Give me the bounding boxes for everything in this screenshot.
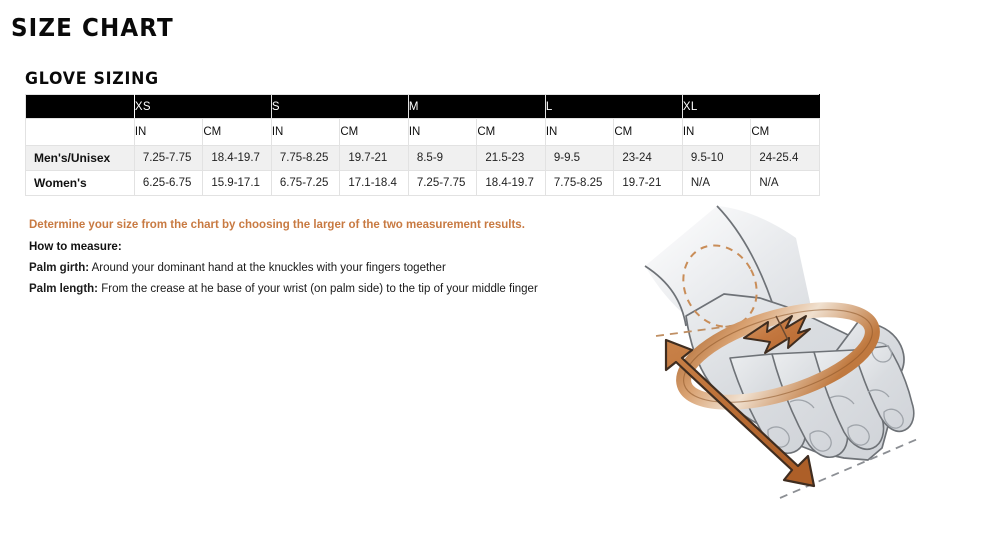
table-row: Men's/Unisex 7.25-7.75 18.4-19.7 7.75-8.… [26,146,820,171]
cell-mens-xl-in: 9.5-10 [682,146,751,171]
cell-womens-xs-cm: 15.9-17.1 [203,171,272,196]
section-title: GLOVE SIZING [25,69,159,89]
cell-mens-s-cm: 19.7-21 [340,146,409,171]
cell-mens-xs-cm: 18.4-19.7 [203,146,272,171]
cell-mens-m-cm: 21.5-23 [477,146,546,171]
unit-xs-cm: CM [203,119,272,146]
sizing-note: Determine your size from the chart by ch… [29,215,619,236]
palm-girth-description: Around your dominant hand at the knuckle… [89,262,446,274]
cell-mens-m-in: 8.5-9 [408,146,477,171]
unit-xl-cm: CM [751,119,820,146]
cell-womens-xs-in: 6.25-6.75 [134,171,203,196]
palm-length-label: Palm length: [29,283,98,295]
header-corner-cell [26,95,135,119]
cell-mens-l-cm: 23-24 [614,146,683,171]
unit-l-in: IN [545,119,614,146]
unit-corner-cell [26,119,135,146]
cell-womens-xl-cm: N/A [751,171,820,196]
cell-womens-m-in: 7.25-7.75 [408,171,477,196]
palm-length-line: Palm length: From the crease at he base … [29,279,619,300]
cell-womens-l-in: 7.75-8.25 [545,171,614,196]
cell-womens-xl-in: N/A [682,171,751,196]
unit-xs-in: IN [134,119,203,146]
cell-mens-xs-in: 7.25-7.75 [134,146,203,171]
unit-s-in: IN [271,119,340,146]
how-to-measure-heading: How to measure: [29,237,619,258]
cell-womens-s-cm: 17.1-18.4 [340,171,409,196]
row-label-womens: Women's [26,171,135,196]
cell-womens-s-in: 6.75-7.25 [271,171,340,196]
header-size-xs: XS [134,95,271,119]
hand-measurement-illustration [620,198,987,535]
header-size-l: L [545,95,682,119]
header-size-m: M [408,95,545,119]
table-size-header-row: XS S M L XL [26,95,820,119]
palm-girth-label: Palm girth: [29,262,89,274]
palm-girth-line: Palm girth: Around your dominant hand at… [29,258,619,279]
cell-womens-l-cm: 19.7-21 [614,171,683,196]
size-chart-table-container: XS S M L XL IN CM IN CM IN CM IN CM IN C… [25,94,820,196]
header-size-xl: XL [682,95,819,119]
cell-mens-s-in: 7.75-8.25 [271,146,340,171]
table-row: Women's 6.25-6.75 15.9-17.1 6.75-7.25 17… [26,171,820,196]
table-unit-header-row: IN CM IN CM IN CM IN CM IN CM [26,119,820,146]
measurement-instructions: Determine your size from the chart by ch… [29,215,619,300]
row-label-mens-unisex: Men's/Unisex [26,146,135,171]
unit-xl-in: IN [682,119,751,146]
header-size-s: S [271,95,408,119]
page-title: SIZE CHART [11,13,174,42]
unit-s-cm: CM [340,119,409,146]
unit-m-in: IN [408,119,477,146]
unit-l-cm: CM [614,119,683,146]
unit-m-cm: CM [477,119,546,146]
cell-womens-m-cm: 18.4-19.7 [477,171,546,196]
cell-mens-xl-cm: 24-25.4 [751,146,820,171]
palm-length-description: From the crease at he base of your wrist… [98,283,538,295]
cell-mens-l-in: 9-9.5 [545,146,614,171]
glove-sizing-table: XS S M L XL IN CM IN CM IN CM IN CM IN C… [25,94,820,196]
